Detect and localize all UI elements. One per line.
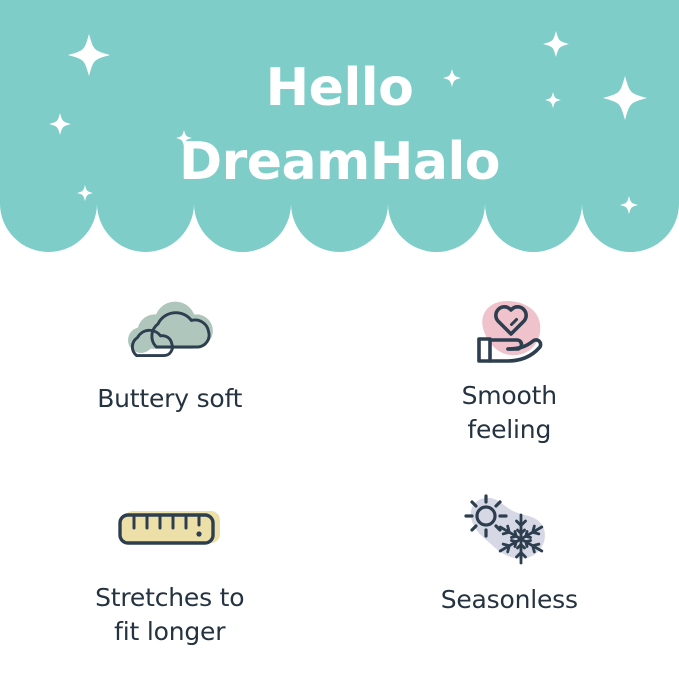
page-title: Hello DreamHalo [0, 52, 679, 200]
hand-heart-icon [449, 288, 569, 370]
feature-item-smooth-feeling: Smooth feeling [340, 262, 679, 469]
sun-snowflake-icon [449, 487, 569, 569]
feature-label-smooth-feeling: Smooth feeling [462, 379, 557, 447]
feature-item-seasonless: Seasonless [340, 469, 679, 676]
feature-label-buttery-soft: Buttery soft [97, 382, 242, 416]
cloud-icon [110, 288, 230, 370]
feature-grid: Buttery soft Smooth feeling [0, 262, 679, 676]
feature-label-stretches-to-fit-longer: Stretches to fit longer [95, 581, 244, 649]
feature-item-buttery-soft: Buttery soft [0, 262, 340, 469]
ruler-icon [110, 487, 230, 569]
hero-banner: Hello DreamHalo [0, 0, 679, 262]
feature-label-seasonless: Seasonless [441, 583, 578, 617]
feature-item-stretches-to-fit-longer: Stretches to fit longer [0, 469, 340, 676]
